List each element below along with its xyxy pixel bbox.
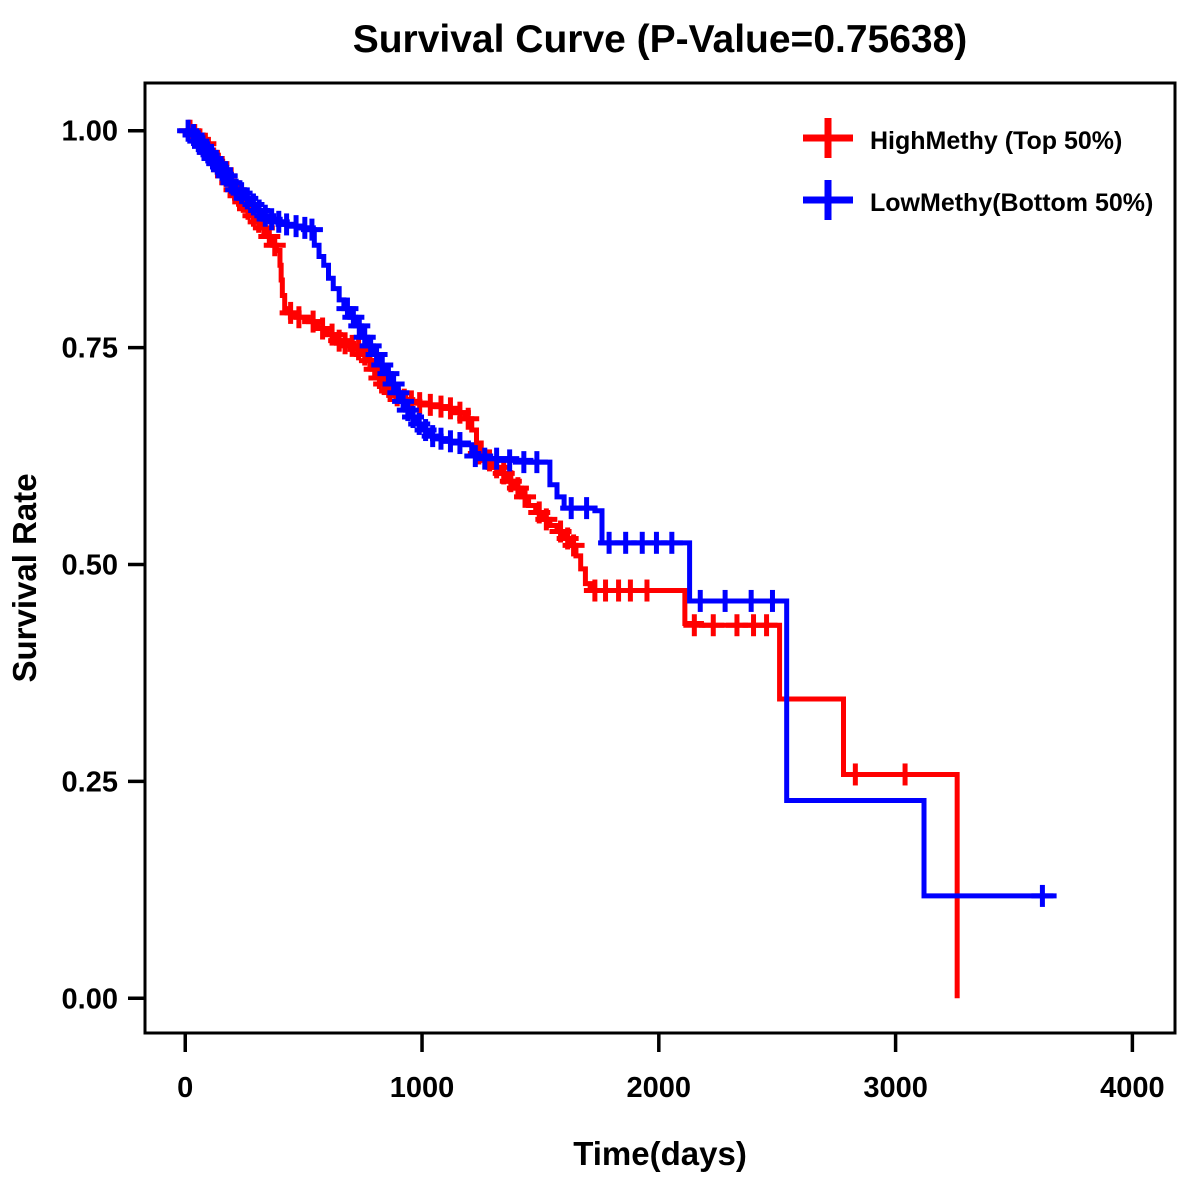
x-tick-label: 0 bbox=[177, 1072, 193, 1104]
x-tick-label: 4000 bbox=[1100, 1072, 1165, 1104]
x-tick-label: 1000 bbox=[390, 1072, 455, 1104]
page-title: Survival Curve (P-Value=0.75638) bbox=[353, 18, 968, 61]
legend-item-label: HighMethy (Top 50%) bbox=[870, 127, 1122, 155]
survival-plot-svg: Survival Curve (P-Value=0.75638) 0.000.2… bbox=[0, 0, 1200, 1200]
y-tick-label: 0.00 bbox=[62, 983, 118, 1015]
survival-curve-figure: Survival Curve (P-Value=0.75638) 0.000.2… bbox=[0, 0, 1200, 1200]
x-tick-label: 2000 bbox=[627, 1072, 692, 1104]
y-axis-label: Survival Rate bbox=[6, 473, 43, 682]
y-tick-label: 0.50 bbox=[62, 550, 118, 582]
figure-background bbox=[0, 0, 1200, 1200]
y-tick-label: 0.25 bbox=[62, 766, 118, 798]
y-tick-label: 1.00 bbox=[62, 116, 118, 148]
x-tick-label: 3000 bbox=[863, 1072, 928, 1104]
x-axis-label: Time(days) bbox=[573, 1135, 747, 1172]
y-tick-label: 0.75 bbox=[62, 333, 118, 365]
legend-item-label: LowMethy(Bottom 50%) bbox=[870, 189, 1153, 217]
